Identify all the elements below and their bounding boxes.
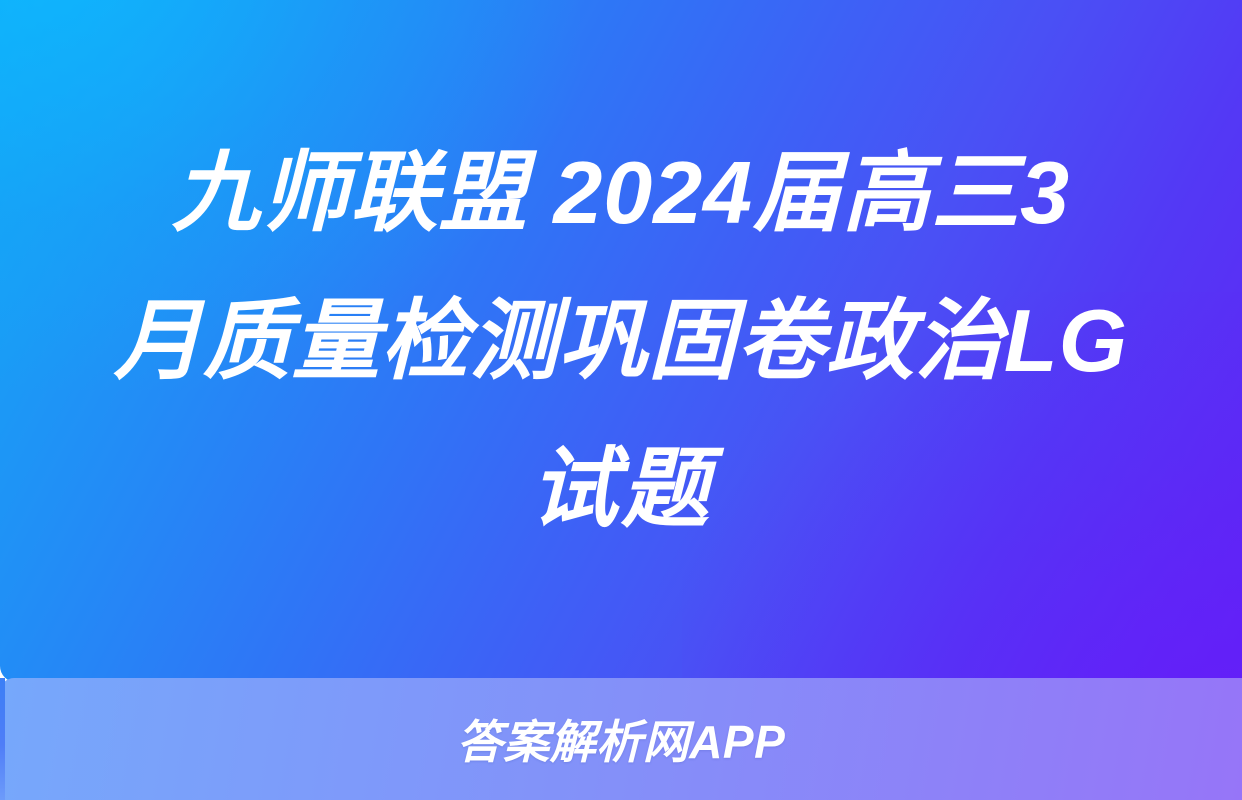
- hero-title-line-3: 试题: [530, 415, 712, 563]
- hero-gradient-card: 九师联盟 2024届高三3 月质量检测巩固卷政治LG 试题: [0, 0, 1242, 682]
- hero-title-line-2: 月质量检测巩固卷政治LG: [114, 267, 1128, 415]
- poster-canvas: 九师联盟 2024届高三3 月质量检测巩固卷政治LG 试题 答案解析网APP: [0, 0, 1242, 800]
- hero-title-block: 九师联盟 2024届高三3 月质量检测巩固卷政治LG 试题: [0, 0, 1242, 682]
- hero-title-line-1: 九师联盟 2024届高三3: [172, 119, 1070, 267]
- footer-brand-band: 答案解析网APP: [0, 678, 1242, 800]
- footer-left-edge-sliver: [0, 678, 5, 800]
- footer-brand-label: 答案解析网APP: [0, 678, 1242, 800]
